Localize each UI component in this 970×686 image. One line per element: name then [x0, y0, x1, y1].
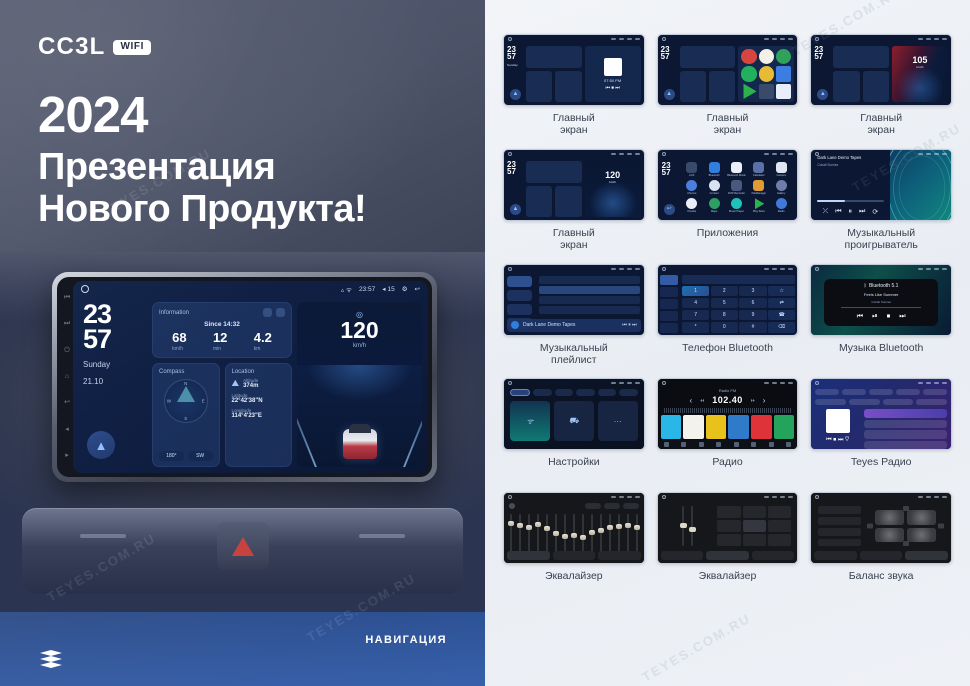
thumb-status-bar [811, 379, 951, 387]
balance-presets[interactable] [818, 506, 861, 546]
app-dvr-recorder[interactable]: DVR Recorder [726, 180, 746, 196]
grid-cell[interactable]: 23 57 120 [503, 149, 645, 260]
navigation-fab[interactable]: ▲ [510, 204, 521, 215]
navigation-fab[interactable]: ▲ [510, 89, 521, 100]
grid-cell[interactable]: 1 2 3 ☆ 4 5 6 ⇄ 7 8 9 ☎ [657, 264, 799, 375]
thumbnail-home-road[interactable]: 23 57 120 [503, 149, 645, 221]
grid-caption: Эквалайзер [699, 570, 757, 594]
thumb-status-bar [811, 493, 951, 501]
headline-line-1: Презентация [38, 146, 366, 189]
widget-row: Compass N S W E [152, 363, 292, 467]
prev-track-key[interactable]: ⏮ [63, 294, 71, 302]
thumb-status-bar [658, 379, 798, 387]
preset-button[interactable] [717, 506, 740, 518]
app-calculator[interactable]: Calculator [749, 162, 769, 178]
grid-cell[interactable]: 23 57 105 [810, 34, 952, 145]
list-item[interactable] [539, 286, 640, 294]
eq-band[interactable] [537, 514, 539, 554]
teyes-controls[interactable]: ⏮ ⏹ ⏭ ♡ [826, 437, 849, 444]
compass-dial: N S W E [164, 379, 208, 423]
eq-band[interactable] [528, 514, 530, 554]
thumb-speed: 120 km/h [585, 170, 641, 184]
radio-ui: Radio FM ‹ ⏴⏴ 102.40 ⏵⏵ › [658, 379, 798, 449]
side-key-strip[interactable]: ⏮ ⏭ ⏻ ⌂ ↩ ◂ ▸ [60, 285, 74, 469]
key-1[interactable]: 1 [682, 286, 709, 297]
screenshot-grid-panel: 23 57 Sunday [485, 0, 970, 686]
key-7[interactable]: 7 [682, 310, 709, 321]
thumbnail-home-apps[interactable]: 23 57 [657, 34, 799, 106]
vent-slot-right [359, 534, 405, 538]
preset-tile[interactable] [728, 415, 749, 439]
home-icon[interactable] [81, 285, 89, 293]
bt-progress-bar[interactable] [841, 307, 921, 308]
thumbnail-settings[interactable]: ᯤ ⛟ ··· [503, 378, 645, 450]
grid-caption: Главныйэкран [553, 112, 595, 137]
next-icon[interactable]: ⏭ [899, 313, 905, 321]
widget-column: Information Since 14:32 [152, 302, 292, 467]
app-icon[interactable] [759, 49, 774, 64]
back-key[interactable]: ↩ [63, 399, 71, 407]
balance-down-button[interactable] [903, 541, 909, 546]
headline-year: 2024 [38, 88, 366, 142]
thumb-status-bar [504, 493, 644, 501]
grid-cell[interactable]: 23 57 Sunday [503, 34, 645, 145]
grid-caption: Эквалайзер [545, 570, 603, 594]
thumbnail-equalizer-presets[interactable] [657, 492, 799, 564]
dashboard-illustration: ⏮ ⏭ ⏻ ⌂ ↩ ◂ ▸ ▵ ᯤ 23:57 [0, 252, 485, 612]
since-label: Since 14:32 [159, 321, 285, 328]
speed-readout: ◎ 120 km/h [297, 310, 422, 349]
shuffle-icon[interactable]: ⤫ [823, 208, 829, 216]
compass-s: S [184, 416, 187, 421]
thumbnail-bluetooth-music[interactable]: ᛒ Bluetooth 5.1 Feels Like Summer Cobalt… [810, 264, 952, 336]
eq-band[interactable] [519, 514, 521, 554]
media-controls[interactable]: ⏮ ⏹ ⏭ [605, 85, 619, 91]
home-icon [662, 495, 666, 499]
trip-stats: 68 km/h 12 min 4.2 [159, 331, 285, 352]
pause-icon[interactable]: ⏸ [849, 208, 853, 216]
list-item[interactable] [539, 296, 640, 304]
latitude-value: 22°42'38"N [232, 398, 286, 404]
album-art [511, 321, 519, 329]
status-time: 23:57 [359, 286, 375, 293]
radio-frequency: 102.40 [712, 395, 743, 405]
clock-column: 23 57 Sunday 21.10 ▲ [79, 302, 147, 467]
app-aux[interactable]: AUX [682, 162, 702, 178]
equalizer-tabs[interactable] [507, 551, 641, 560]
search-icon[interactable] [681, 442, 686, 447]
grid-caption: Музыкальныйпроигрыватель [845, 227, 918, 252]
toolbar-icon[interactable] [664, 442, 669, 447]
location-title: Location [232, 369, 286, 375]
power-key[interactable]: ⏻ [63, 347, 71, 355]
gear-icon[interactable]: ⚙ [402, 285, 408, 293]
wifi-tile[interactable]: ᯤ [510, 401, 550, 441]
longitude-value: 114°4'23"E [232, 413, 286, 419]
key-0[interactable]: 0 [711, 322, 738, 333]
thumb-speed-unit: km/h [585, 180, 641, 184]
thumbnail-apps[interactable]: 23 57 AUX Bluetooth Bluetooth Music Calc… [657, 149, 799, 221]
home-icon [815, 152, 819, 156]
more-tile[interactable]: ··· [598, 401, 638, 441]
preset-button[interactable] [717, 534, 740, 546]
thumbnail-teyes-radio[interactable]: ⏮ ⏹ ⏭ ♡ [810, 378, 952, 450]
app-drawer-grid[interactable]: AUX Bluetooth Bluetooth Music Calculator… [680, 160, 794, 216]
app-music-player[interactable]: Music Player [726, 198, 746, 214]
grid-caption: Телефон Bluetooth [682, 342, 773, 366]
home-icon [508, 381, 512, 385]
equalizer-header [504, 502, 644, 510]
app-gallery[interactable]: Gallery [771, 180, 791, 196]
home-icon [815, 495, 819, 499]
toolbar-icon[interactable] [716, 442, 721, 447]
balance-up-button[interactable] [903, 506, 909, 511]
toolbar-icon[interactable] [734, 442, 739, 447]
app-maps[interactable]: Maps [704, 198, 724, 214]
expand-icon[interactable] [276, 308, 285, 317]
app-bluetooth-music[interactable]: Bluetooth Music [726, 162, 746, 178]
speed-unit: km/h [297, 343, 422, 349]
clock-date: 21.10 [83, 377, 147, 387]
tune-up-icon[interactable]: ⏵⏵ [751, 398, 755, 403]
home-icon [815, 381, 819, 385]
bt-track-artist: Cobalt Sunrise [871, 300, 891, 304]
stat-distance-value: 4.2 [254, 331, 272, 344]
preset-tile[interactable] [661, 415, 682, 439]
back-icon[interactable]: ↩ [415, 285, 420, 293]
call-icon[interactable]: ☎ [768, 310, 795, 321]
balance-left-button[interactable] [867, 524, 873, 529]
bluetooth-music-ui: ᛒ Bluetooth 5.1 Feels Like Summer Cobalt… [811, 265, 951, 335]
key-5[interactable]: 5 [711, 298, 738, 309]
grid-caption: Музыка Bluetooth [839, 342, 923, 366]
play-pause-icon[interactable]: ⏯ [872, 313, 878, 321]
eq-band[interactable] [564, 514, 566, 554]
compass-title: Compass [159, 369, 213, 375]
mini-controls[interactable]: ⏮ ⏸ ⏭ [622, 322, 636, 328]
app-icon[interactable] [759, 84, 774, 99]
thumb-speed: 105 km/h [892, 55, 948, 69]
grid-cell[interactable]: ⏮ ⏹ ⏭ ♡ Teyes Радио [810, 378, 952, 488]
key-hash[interactable]: # [739, 322, 766, 333]
screenshot-grid: 23 57 Sunday [503, 34, 952, 602]
head-unit-inner: ⏮ ⏭ ⏻ ⌂ ↩ ◂ ▸ ▵ ᯤ 23:57 [57, 277, 432, 477]
home-icon [508, 37, 512, 41]
key-star[interactable]: * [682, 322, 709, 333]
hazard-button[interactable] [217, 522, 269, 570]
album-art [826, 409, 850, 433]
eq-band[interactable] [627, 514, 629, 554]
head-unit-bezel: ⏮ ⏭ ⏻ ⌂ ↩ ◂ ▸ ▵ ᯤ 23:57 [52, 272, 437, 482]
preset-grid[interactable] [717, 506, 791, 546]
eq-band[interactable] [546, 514, 548, 554]
wifi-icon: ▵ ᯤ [341, 285, 352, 294]
grid-cell[interactable]: Эквалайзер [657, 492, 799, 602]
thumbnail-sound-balance[interactable] [810, 492, 952, 564]
thumbnail-home-media[interactable]: 23 57 Sunday [503, 34, 645, 106]
app-bluetooth[interactable]: Bluetooth [704, 162, 724, 178]
backspace-icon[interactable]: ⌫ [768, 322, 795, 333]
thumbnail-playlist[interactable]: Dark Lane Demo Tapes ⏮ ⏸ ⏭ [503, 264, 645, 336]
grid-cell[interactable]: 23 57 [657, 34, 799, 145]
prev-icon[interactable]: ⏮ [835, 208, 841, 216]
grid-cell[interactable]: Эквалайзер [503, 492, 645, 602]
teyes-subtabs[interactable] [811, 397, 951, 407]
volume-up-key[interactable]: ▸ [63, 452, 71, 460]
home-key[interactable]: ⌂ [63, 373, 71, 381]
eq-band[interactable] [510, 514, 512, 554]
grid-cell[interactable]: Dark Lane Demo Tapes ⏮ ⏸ ⏭ Музыкальныйпл… [503, 264, 645, 375]
thumb-status-bar [658, 493, 798, 501]
grid-cell[interactable]: ᯤ ⛟ ··· Настройки [503, 378, 645, 488]
driving-view[interactable]: ◎ 120 km/h [297, 302, 422, 467]
clock-minutes: 57 [83, 327, 147, 352]
volume-indicator: ◂15 [382, 285, 395, 293]
thumb-compass-card [526, 71, 552, 102]
preset-tile[interactable] [751, 415, 772, 439]
back-fab[interactable]: ↩ [664, 204, 675, 215]
home-icon [508, 152, 512, 156]
next-station-icon[interactable]: › [763, 396, 766, 405]
vent-slot-left [80, 534, 126, 538]
preset-button-selected[interactable] [743, 520, 766, 532]
preset-tile[interactable] [706, 415, 727, 439]
radio-toolbar[interactable] [658, 440, 798, 449]
equalizer-bands[interactable] [504, 510, 644, 554]
bt-version: Bluetooth 5.1 [869, 283, 898, 289]
thumb-status-bar [811, 150, 951, 158]
wifi-badge: WIFI [113, 40, 151, 55]
stat-time-unit: min [213, 346, 227, 352]
head-unit-screen[interactable]: ▵ ᯤ 23:57 ◂15 ⚙ ↩ 23 57 Sunday 21.10 [73, 281, 428, 473]
thumb-speed-value: 105 [912, 55, 927, 65]
key-6[interactable]: 6 [739, 298, 766, 309]
grid-cell[interactable]: 23 57 AUX Bluetooth Bluetooth Music Calc… [657, 149, 799, 260]
radio-tuner: ‹ ⏴⏴ 102.40 ⏵⏵ › [658, 393, 798, 407]
progress-bar[interactable] [817, 200, 883, 202]
key-8[interactable]: 8 [711, 310, 738, 321]
balance-pad[interactable] [867, 506, 944, 546]
screen-body: 23 57 Sunday 21.10 ▲ Information [73, 297, 428, 473]
track-time: 07:50 PM [604, 78, 621, 83]
thumbnail-bluetooth-phone[interactable]: 1 2 3 ☆ 4 5 6 ⇄ 7 8 9 ☎ [657, 264, 799, 336]
prev-icon[interactable]: ⏮ [857, 313, 863, 321]
thumb-status-bar [658, 35, 798, 43]
eq-band[interactable] [573, 514, 575, 554]
teyes-now-playing: ⏮ ⏹ ⏭ ♡ [815, 409, 860, 449]
bass-slider[interactable] [682, 506, 684, 546]
preset-button[interactable] [768, 520, 791, 532]
tune-down-icon[interactable]: ⏴⏴ [700, 398, 704, 403]
thumb-status-bar [658, 265, 798, 273]
settings-tabs[interactable] [508, 389, 640, 399]
music-track-artist: Cobalt Sunrise [817, 163, 883, 167]
home-icon [662, 267, 666, 271]
key-2[interactable]: 2 [711, 286, 738, 297]
grid-cell[interactable]: Dark Lane Demo Tapes Cobalt Sunrise ⤫ ⏮ … [810, 149, 952, 260]
thumb-app-shortcuts [738, 46, 794, 102]
compass-card[interactable]: Compass N S W E [152, 363, 220, 467]
dialer-input[interactable] [682, 275, 795, 284]
next-track-key[interactable]: ⏭ [63, 320, 71, 328]
thumb-driving-view: 105 km/h [892, 46, 948, 102]
preset-tile[interactable] [683, 415, 704, 439]
eq-band[interactable] [591, 514, 593, 554]
repeat-icon[interactable]: ⟳ [872, 208, 878, 216]
mini-player-bar[interactable]: Dark Lane Demo Tapes ⏮ ⏸ ⏭ [507, 319, 641, 332]
information-title: Information [159, 310, 189, 316]
toolbar-icon[interactable] [699, 442, 704, 447]
location-card[interactable]: Location ⛰ Altitude 374m [225, 363, 293, 467]
grid-caption: Настройки [548, 456, 600, 480]
eq-band[interactable] [618, 514, 620, 554]
favorite-icon[interactable]: ☆ [768, 286, 795, 297]
all-apps-icon[interactable] [776, 84, 791, 99]
thumb-status-bar [504, 379, 644, 387]
mini-track-title: Dark Lane Demo Tapes [523, 322, 575, 328]
balance-right-button[interactable] [938, 524, 944, 529]
prev-station-icon[interactable]: ‹ [690, 396, 693, 405]
thumb-status-bar [504, 265, 644, 273]
home-icon [508, 495, 512, 499]
thumb-status-bar [504, 150, 644, 158]
thumb-speed-value: 120 [605, 170, 620, 180]
treble-slider[interactable] [691, 506, 693, 546]
app-chrome[interactable]: Chrome [682, 180, 702, 196]
equalizer-ui [504, 493, 644, 563]
refresh-icon[interactable] [263, 308, 272, 317]
bluetooth-icon-label: ᛒ Bluetooth 5.1 [864, 283, 898, 289]
toolbar-icon[interactable] [751, 442, 756, 447]
app-play-store[interactable]: Play Store [749, 198, 769, 214]
play-store-icon[interactable] [741, 84, 756, 99]
grid-caption: Главныйэкран [707, 112, 749, 137]
compass-w: W [167, 399, 171, 404]
app-filemanager[interactable]: FileManager [749, 180, 769, 196]
preset-button[interactable] [768, 506, 791, 518]
traffic-tile[interactable]: ⛟ [554, 401, 594, 441]
app-icon[interactable] [741, 49, 756, 64]
logo-text: CC3L [38, 33, 105, 61]
eq-band[interactable] [609, 514, 611, 554]
bt-controls[interactable]: ⏮ ⏯ ⏹ ⏭ [857, 313, 906, 321]
thumbnail-equalizer[interactable] [503, 492, 645, 564]
eq-band[interactable] [555, 514, 557, 554]
toolbar-icon[interactable] [769, 442, 774, 447]
transfer-icon[interactable]: ⇄ [768, 298, 795, 309]
bt-track-title: Feels Like Summer [864, 292, 898, 297]
thumb-driving-view: 120 km/h [585, 161, 641, 217]
stop-icon[interactable]: ⏹ [887, 313, 891, 321]
preset-icon [509, 503, 515, 509]
navigation-fab[interactable]: ▲ [87, 431, 115, 459]
thumb-clock: 23 57 [662, 162, 678, 177]
eq-band[interactable] [636, 514, 638, 554]
tone-sliders[interactable] [664, 506, 713, 546]
app-camera[interactable]: Camera [771, 162, 791, 178]
information-card[interactable]: Information Since 14:32 [152, 302, 292, 358]
app-contact[interactable]: Contact [704, 180, 724, 196]
preset-button[interactable] [743, 534, 766, 546]
altitude-value: 374m [243, 383, 258, 389]
app-radio[interactable]: Radio [771, 198, 791, 214]
equalizer-tabs[interactable] [661, 551, 795, 560]
key-4[interactable]: 4 [682, 298, 709, 309]
app-icon[interactable] [776, 66, 791, 81]
thumb-status-bar [811, 265, 951, 273]
preset-button[interactable] [768, 534, 791, 546]
status-bar: ▵ ᯤ 23:57 ◂15 ⚙ ↩ [73, 281, 428, 297]
preset-buttons[interactable] [585, 503, 639, 509]
thumbnail-radio[interactable]: Radio FM ‹ ⏴⏴ 102.40 ⏵⏵ › [657, 378, 799, 450]
key-3[interactable]: 3 [739, 286, 766, 297]
settings-cards[interactable]: ᯤ ⛟ ··· [508, 399, 640, 443]
thumb-clock-m: 57 [507, 52, 516, 61]
headline-line-2: Нового Продукта! [38, 188, 366, 231]
grid-cell[interactable]: Баланс звука [810, 492, 952, 602]
hero-panel: CC3L WIFI 2024 Презентация Нового Продук… [0, 0, 485, 686]
preset-tile[interactable] [774, 415, 795, 439]
thumbnail-home-road-red[interactable]: 23 57 105 [810, 34, 952, 106]
compass-degrees: 180° [159, 451, 184, 461]
mountain-icon: ⛰ [232, 378, 240, 389]
album-art [604, 58, 622, 76]
home-icon [662, 37, 666, 41]
grid-caption: Баланс звука [849, 570, 914, 594]
next-icon[interactable]: ⏭ [859, 208, 865, 216]
grid-cell[interactable]: Radio FM ‹ ⏴⏴ 102.40 ⏵⏵ › [657, 378, 799, 488]
app-icon[interactable] [741, 66, 756, 81]
music-player-ui: Dark Lane Demo Tapes Cobalt Sunrise ⤫ ⏮ … [811, 150, 951, 220]
playback-controls[interactable]: ⤫ ⏮ ⏸ ⏭ ⟳ [811, 208, 889, 216]
center-console-vents [22, 508, 463, 594]
thumbnail-music-player[interactable]: Dark Lane Demo Tapes Cobalt Sunrise ⤫ ⏮ … [810, 149, 952, 221]
app-kinodie[interactable]: Kinodie [682, 198, 702, 214]
grid-caption: Главныйэкран [553, 227, 595, 252]
eq-band[interactable] [582, 514, 584, 554]
frequency-scale[interactable] [664, 408, 792, 413]
list-item[interactable] [539, 306, 640, 314]
eq-band[interactable] [600, 514, 602, 554]
key-9[interactable]: 9 [739, 310, 766, 321]
equalizer-presets-ui [658, 493, 798, 563]
station-presets[interactable] [658, 415, 798, 439]
volume-down-key[interactable]: ◂ [63, 426, 71, 434]
toolbar-icon[interactable] [786, 442, 791, 447]
presentation-page: CC3L WIFI 2024 Презентация Нового Продук… [0, 0, 970, 686]
list-item[interactable] [539, 276, 640, 284]
bt-panel: ᛒ Bluetooth 5.1 Feels Like Summer Cobalt… [824, 279, 939, 327]
volume-value: 15 [387, 286, 394, 293]
speed-value: 120 [297, 319, 422, 342]
app-icon[interactable] [759, 66, 774, 81]
dialer-sidebar[interactable] [658, 273, 680, 335]
music-visualizer [890, 150, 951, 220]
teyes-tabs[interactable] [811, 387, 951, 397]
grid-caption: Приложения [697, 227, 758, 251]
compass-e: E [202, 399, 205, 404]
stat-speed-value: 68 [172, 331, 186, 344]
equalizer-tabs[interactable] [814, 551, 948, 560]
teyes-station-list[interactable] [864, 409, 947, 449]
preset-button[interactable] [743, 506, 766, 518]
dial-pad[interactable]: 1 2 3 ☆ 4 5 6 ⇄ 7 8 9 ☎ [682, 286, 795, 333]
preset-button[interactable] [717, 520, 740, 532]
navigation-fab[interactable]: ▲ [664, 89, 675, 100]
grid-cell[interactable]: ᛒ Bluetooth 5.1 Feels Like Summer Cobalt… [810, 264, 952, 375]
app-icon[interactable] [776, 49, 791, 64]
clock-day: Sunday [83, 360, 147, 370]
